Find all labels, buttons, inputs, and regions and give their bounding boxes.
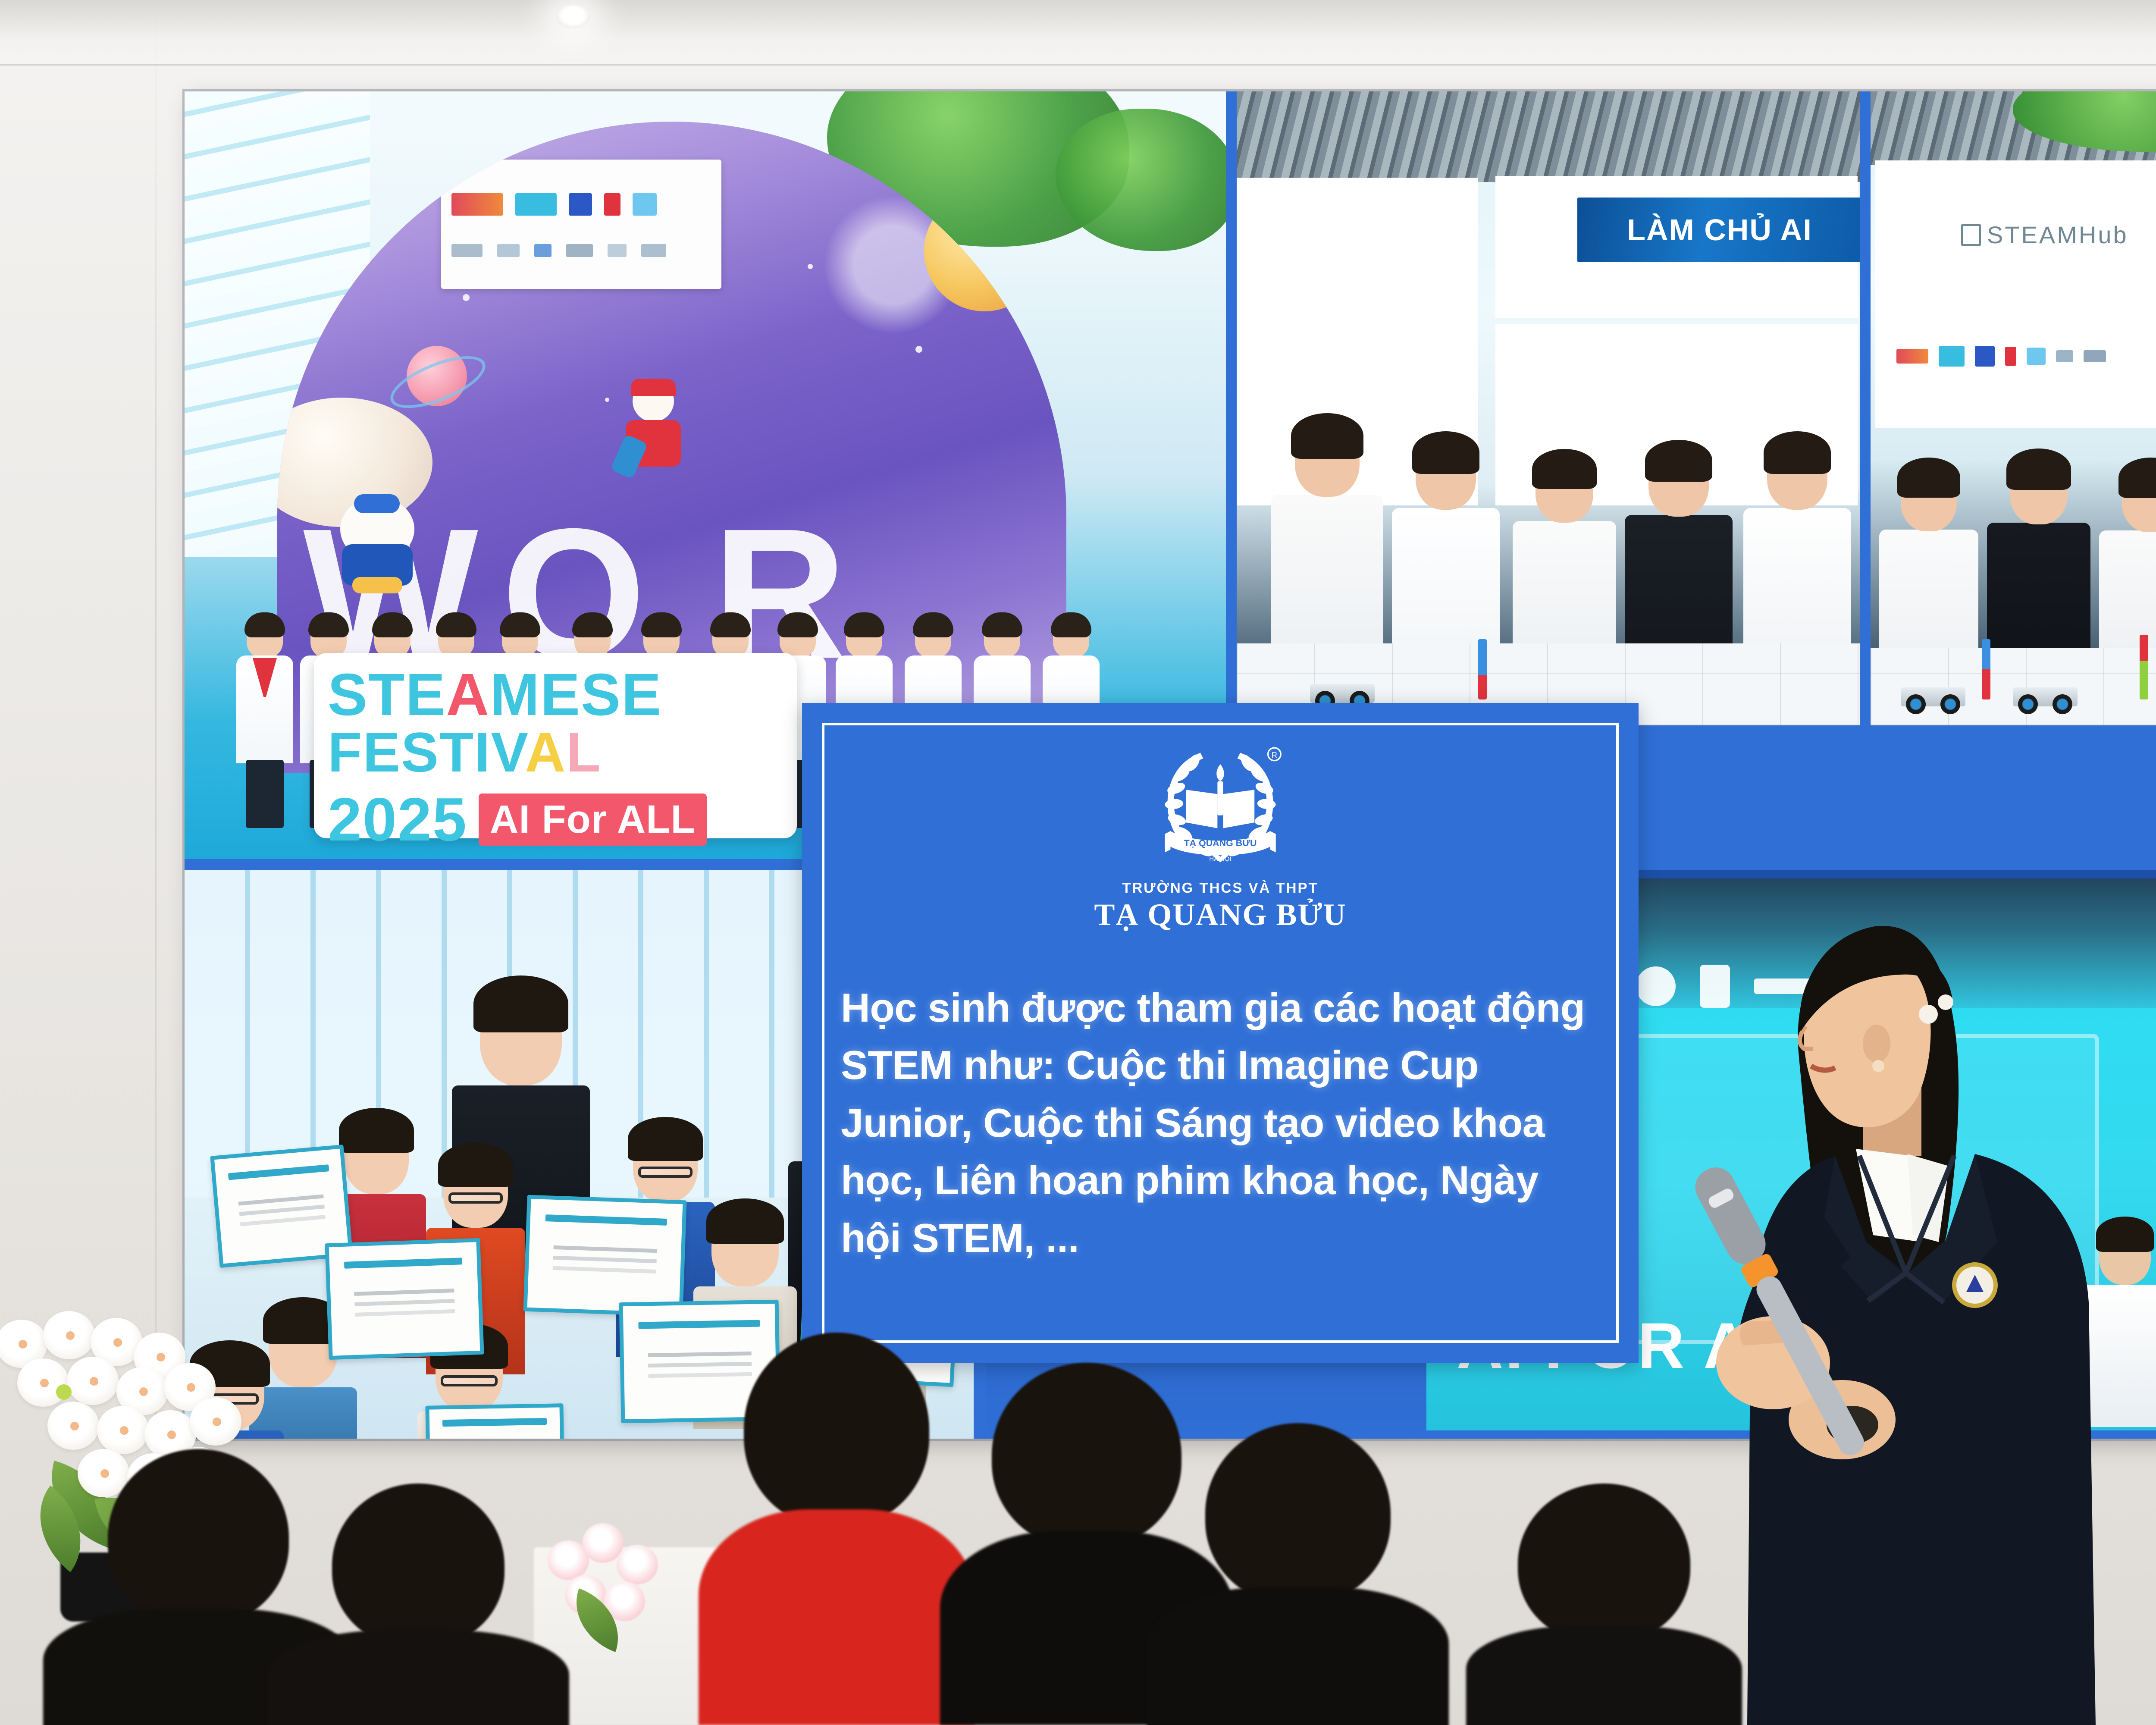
- orchid-bloom: [67, 1357, 119, 1405]
- booth-wall: [1875, 160, 2156, 428]
- pink-bloom: [582, 1523, 624, 1563]
- glasses-icon: [638, 1167, 693, 1178]
- sponsor-logo: [2056, 350, 2073, 362]
- slide-content-panel: TẠ QUANG BỬU HÀ NỘI R TRƯỜNG THCS VÀ THP…: [802, 703, 1639, 1363]
- festival-tagline: AI For ALL: [479, 793, 707, 846]
- festival-banner-line3: 2025 AI For ALL: [328, 784, 783, 855]
- orchid-bloom: [190, 1397, 241, 1446]
- audience-member: [1466, 1483, 1742, 1725]
- svg-text:R: R: [1272, 751, 1277, 759]
- sponsor-logo-small: [566, 244, 593, 257]
- sponsor-logo-row: [1896, 346, 2106, 367]
- audience-member: [1147, 1423, 1449, 1725]
- school-name-line1: TRƯỜNG THCS VÀ THPT: [1122, 880, 1318, 896]
- astronaut-icon: [614, 380, 691, 480]
- sponsor-logo: [2005, 347, 2016, 366]
- flower-bud: [56, 1384, 72, 1400]
- speaker-presenter: [1690, 897, 2156, 1725]
- ceiling: [0, 0, 2156, 65]
- lam-chu-ai-banner: LÀM CHỦ AI: [1577, 198, 1860, 262]
- sponsor-logo: [569, 193, 592, 216]
- sponsor-logo-small: [608, 244, 627, 257]
- steamhub-label: STEAMHub: [1987, 221, 2128, 249]
- festival-banner-line2: FESTIVAL: [328, 727, 783, 778]
- steamhub-logo: STEAMHub: [1961, 221, 2128, 249]
- certificate: [425, 1403, 564, 1439]
- sponsor-logo: [451, 193, 503, 216]
- certificate: [325, 1238, 484, 1360]
- festival-year: 2025: [328, 784, 467, 855]
- slide-body-text: Học sinh được tham gia các hoạt động STE…: [841, 979, 1605, 1267]
- sponsor-logo: [2027, 348, 2046, 365]
- audience-member: [699, 1333, 975, 1725]
- marker-pole: [1478, 639, 1487, 699]
- sponsor-logo-small: [497, 244, 520, 257]
- sponsor-logo: [1939, 346, 1965, 367]
- festival-banner-line1: STEAMESE: [328, 668, 783, 722]
- sponsor-logo-small: [451, 244, 483, 257]
- robot-kit: [2013, 674, 2078, 714]
- crest-ribbon-sub: HÀ NỘI: [1209, 855, 1231, 862]
- audience-member: [267, 1483, 569, 1725]
- orchid-bloom: [47, 1402, 99, 1450]
- certificate: [523, 1195, 686, 1317]
- marker-pole: [1982, 639, 1990, 699]
- sponsor-logo-row-primary: [451, 193, 657, 216]
- student-figure: [236, 616, 293, 763]
- dome-sponsor-sign: [441, 160, 721, 289]
- sponsor-logo-small: [641, 244, 666, 257]
- led-logo: [1636, 966, 1676, 1006]
- glasses-icon: [441, 1375, 497, 1386]
- book-icon: [1961, 224, 1981, 246]
- ceiling-edge: [0, 64, 2156, 66]
- festival-banner: STEAMESE FESTIVAL 2025 AI For ALL: [314, 653, 797, 838]
- sponsor-logo: [604, 193, 620, 216]
- ceiling-spotlight: [556, 5, 590, 28]
- sponsor-logo-small: [534, 244, 552, 257]
- school-name-line2: TẠ QUANG BỬU: [1094, 897, 1346, 933]
- sponsor-logo: [1896, 349, 1928, 364]
- photo-top-right: LÀM CHỦ AI: [1237, 91, 1860, 725]
- photo-right: STEAMHub: [1871, 91, 2156, 725]
- marker-pole: [2140, 635, 2148, 699]
- pink-bloom: [617, 1545, 658, 1584]
- orchid-bloom: [43, 1311, 95, 1359]
- sponsor-logo: [1975, 346, 1995, 367]
- glasses-icon: [448, 1192, 503, 1204]
- sponsor-logo: [633, 193, 657, 216]
- roof-structure: [1237, 91, 1860, 182]
- sponsor-logo: [515, 193, 557, 216]
- sponsor-logo-row-secondary: [451, 244, 666, 257]
- sponsor-logo: [2084, 350, 2106, 362]
- orchid-bloom: [97, 1406, 149, 1454]
- school-logo-block: TẠ QUANG BỬU HÀ NỘI R TRƯỜNG THCS VÀ THP…: [802, 736, 1639, 933]
- crest-ribbon-text: TẠ QUANG BỬU: [1184, 837, 1257, 848]
- tree-foliage: [1056, 109, 1226, 251]
- crest-laurel-book-torch-icon: TẠ QUANG BỬU HÀ NỘI R: [1149, 736, 1291, 878]
- planet-yellow: [924, 191, 1045, 311]
- robot-kit: [1901, 674, 1965, 714]
